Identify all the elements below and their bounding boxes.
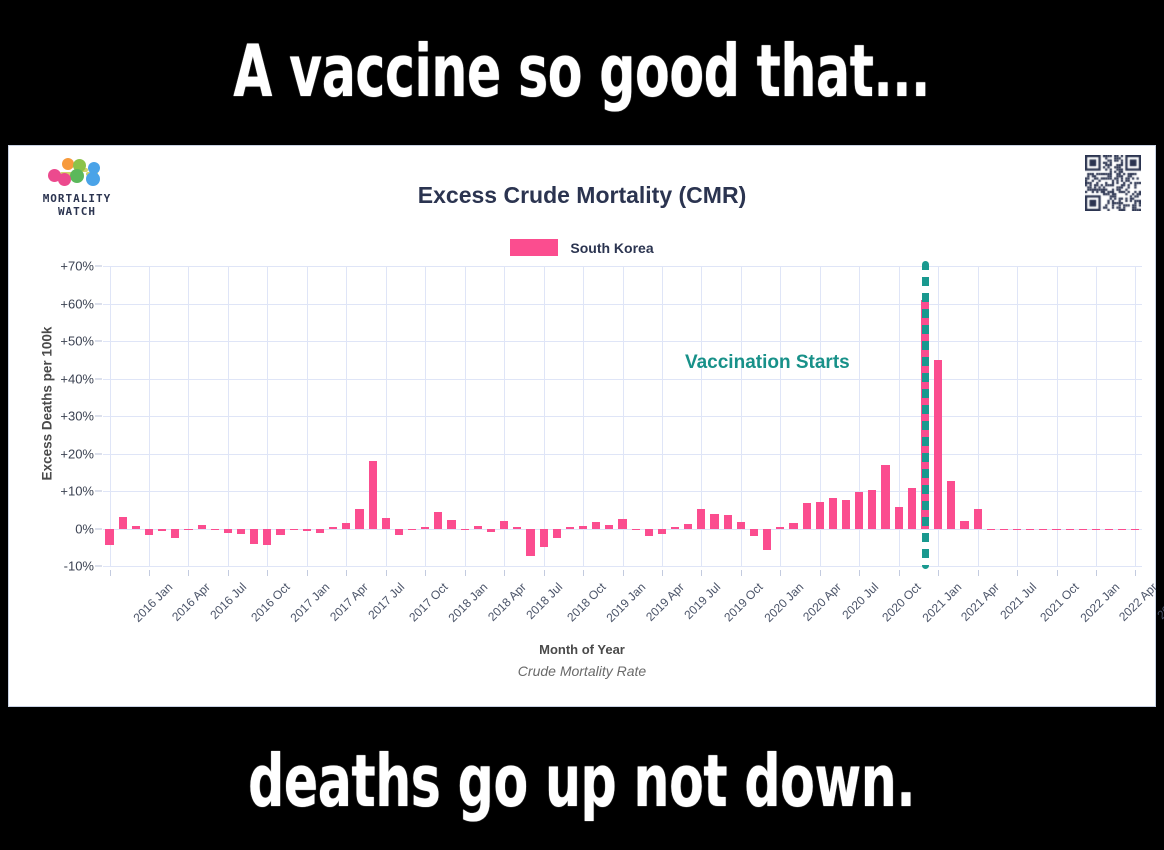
x-axis-tick-label: 2019 Jul xyxy=(681,580,723,622)
screenshot-root: A vaccine so good that... MORTALITY WATC… xyxy=(0,0,1164,850)
bar xyxy=(1026,529,1034,531)
bar xyxy=(579,526,587,528)
vaccination-start-label: Vaccination Starts xyxy=(685,352,850,374)
bar xyxy=(224,529,232,533)
x-axis-tick-label: 2020 Apr xyxy=(800,580,844,624)
bar xyxy=(329,527,337,529)
bar xyxy=(1131,529,1139,531)
x-axis-tick-label: 2016 Apr xyxy=(169,580,213,624)
bar xyxy=(1052,529,1060,531)
x-axis-tick-label: 2017 Apr xyxy=(327,580,371,624)
bar xyxy=(1092,529,1100,531)
bar xyxy=(553,529,561,538)
x-axis-tick-label: 2022 Jan xyxy=(1077,580,1122,625)
bar xyxy=(1039,529,1047,531)
bar xyxy=(1079,529,1087,531)
bar xyxy=(487,529,495,532)
x-axis-tick-mark xyxy=(1017,570,1018,576)
bar xyxy=(960,521,968,528)
x-axis-tick-label: 2021 Apr xyxy=(958,580,1002,624)
x-axis-tick-mark xyxy=(346,570,347,576)
y-axis-tick-label: +10% xyxy=(60,484,94,499)
bar xyxy=(447,520,455,529)
x-axis-tick-label: 2016 Oct xyxy=(248,580,292,624)
bar xyxy=(382,518,390,529)
bar xyxy=(842,500,850,528)
meme-bottom-banner: deaths go up not down. xyxy=(0,712,1164,850)
x-axis-title: Month of Year xyxy=(9,642,1155,657)
x-axis-tick-label: 2016 Jul xyxy=(208,580,250,622)
bar xyxy=(540,529,548,547)
bar xyxy=(119,517,127,529)
x-axis-tick-mark xyxy=(859,570,860,576)
bar xyxy=(618,519,626,529)
x-axis-tick-mark xyxy=(149,570,150,576)
bar xyxy=(500,521,508,529)
y-axis-tick-label: 0% xyxy=(75,521,94,536)
plot-area: +70%+60%+50%+40%+30%+20%+10%0%-10% Vacci… xyxy=(103,266,1142,566)
bar xyxy=(132,526,140,528)
bar xyxy=(198,525,206,528)
y-axis-tick-label: +50% xyxy=(60,334,94,349)
bar xyxy=(645,529,653,537)
x-axis-tick-mark xyxy=(938,570,939,576)
x-axis-tick-label: 2018 Jan xyxy=(446,580,491,625)
x-axis-tick-mark xyxy=(701,570,702,576)
bar xyxy=(816,502,824,529)
bar xyxy=(737,522,745,529)
bar xyxy=(395,529,403,536)
bar xyxy=(342,523,350,528)
bar xyxy=(605,525,613,528)
bar xyxy=(868,490,876,529)
y-axis-tick-label: +20% xyxy=(60,446,94,461)
legend-swatch-south-korea xyxy=(510,239,558,256)
bar xyxy=(421,527,429,529)
gridline-horizontal xyxy=(103,566,1142,567)
x-axis-tick-mark xyxy=(228,570,229,576)
bar-series-south-korea xyxy=(103,266,1142,566)
x-axis-tick-mark xyxy=(978,570,979,576)
bar xyxy=(526,529,534,556)
bar xyxy=(408,529,416,531)
x-axis-tick-label: 2018 Apr xyxy=(485,580,529,624)
vaccination-start-line xyxy=(922,261,929,569)
x-axis-ticks: 2016 Jan2016 Apr2016 Jul2016 Oct2017 Jan… xyxy=(103,570,1142,640)
bar xyxy=(316,529,324,534)
x-axis-tick-label: 2020 Jan xyxy=(761,580,806,625)
bar xyxy=(947,481,955,528)
x-axis-tick-label: 2022 Apr xyxy=(1116,580,1160,624)
bar xyxy=(369,461,377,529)
y-axis-tick-label: +30% xyxy=(60,409,94,424)
y-axis-tick-mark xyxy=(95,266,102,267)
y-axis-tick-label: -10% xyxy=(64,559,94,574)
bar xyxy=(658,529,666,534)
x-axis-tick-mark xyxy=(504,570,505,576)
bar xyxy=(263,529,271,546)
meme-top-banner: A vaccine so good that... xyxy=(0,0,1164,142)
x-axis-tick-label: 2019 Apr xyxy=(643,580,687,624)
logo-dot xyxy=(70,169,84,183)
bar xyxy=(474,526,482,529)
legend-label-south-korea: South Korea xyxy=(570,240,653,256)
bar xyxy=(250,529,258,544)
x-axis-tick-mark xyxy=(1135,570,1136,576)
x-axis-tick-mark xyxy=(899,570,900,576)
y-axis-tick-mark xyxy=(95,416,102,417)
bar xyxy=(105,529,113,546)
bar xyxy=(776,527,784,529)
y-axis-tick-mark xyxy=(95,491,102,492)
bar xyxy=(211,529,219,531)
x-axis-tick-mark xyxy=(623,570,624,576)
bar xyxy=(237,529,245,535)
x-axis-tick-label: 2020 Jul xyxy=(839,580,881,622)
bar xyxy=(290,529,298,531)
x-axis-tick-label: 2017 Jan xyxy=(288,580,333,625)
x-axis-tick-label: 2019 Jan xyxy=(603,580,648,625)
x-axis-tick-mark xyxy=(425,570,426,576)
x-axis-tick-label: 2017 Jul xyxy=(366,580,408,622)
x-axis-tick-mark xyxy=(110,570,111,576)
x-axis-tick-label: 2021 Jan xyxy=(919,580,964,625)
bar xyxy=(829,498,837,528)
bar xyxy=(632,529,640,531)
x-axis-tick-mark xyxy=(544,570,545,576)
x-axis-tick-mark xyxy=(662,570,663,576)
bar xyxy=(434,512,442,528)
bar xyxy=(592,522,600,528)
bar xyxy=(724,515,732,528)
x-axis-tick-mark xyxy=(820,570,821,576)
x-axis-tick-label: 2021 Oct xyxy=(1037,580,1081,624)
x-axis-subtitle: Crude Mortality Rate xyxy=(9,663,1155,679)
meme-top-text: A vaccine so good that... xyxy=(234,35,931,107)
y-axis-tick-label: +60% xyxy=(60,296,94,311)
bar xyxy=(895,507,903,529)
y-axis-tick-mark xyxy=(95,453,102,454)
chart-title: Excess Crude Mortality (CMR) xyxy=(9,182,1155,209)
x-axis-tick-mark xyxy=(465,570,466,576)
x-axis-tick-mark xyxy=(188,570,189,576)
x-axis-tick-mark xyxy=(267,570,268,576)
bar xyxy=(763,529,771,551)
bar xyxy=(697,509,705,528)
x-axis-tick-mark xyxy=(780,570,781,576)
bar xyxy=(303,529,311,531)
x-axis-tick-label: 2017 Oct xyxy=(406,580,450,624)
bar xyxy=(145,529,153,536)
chart-card: MORTALITY WATCH Excess Crude Mortality (… xyxy=(8,145,1156,707)
bar xyxy=(974,509,982,529)
bar xyxy=(803,503,811,529)
bar xyxy=(1105,529,1113,531)
y-axis-tick-mark xyxy=(95,303,102,304)
bar xyxy=(684,524,692,529)
y-axis-tick-label: +40% xyxy=(60,371,94,386)
bar xyxy=(276,529,284,535)
x-axis-tick-mark xyxy=(741,570,742,576)
bar xyxy=(881,465,889,529)
meme-bottom-text: deaths go up not down. xyxy=(248,745,915,817)
bar xyxy=(934,360,942,529)
bar xyxy=(1000,529,1008,531)
bar xyxy=(513,527,521,529)
bar xyxy=(908,488,916,529)
bar xyxy=(855,492,863,529)
chart-legend[interactable]: South Korea xyxy=(9,239,1155,256)
x-axis-tick-mark xyxy=(1096,570,1097,576)
bar xyxy=(789,523,797,528)
y-axis-tick-mark xyxy=(95,528,102,529)
bar xyxy=(1066,529,1074,531)
bar xyxy=(184,529,192,531)
x-axis-tick-label: 2016 Jan xyxy=(130,580,175,625)
x-axis-tick-mark xyxy=(307,570,308,576)
bar xyxy=(671,527,679,529)
bar xyxy=(1013,529,1021,531)
x-axis-tick-mark xyxy=(386,570,387,576)
bar xyxy=(461,529,469,531)
x-axis-tick-label: 2019 Oct xyxy=(722,580,766,624)
y-axis-tick-mark xyxy=(95,566,102,567)
x-axis-tick-label: 2018 Oct xyxy=(564,580,608,624)
bar xyxy=(710,514,718,529)
bar xyxy=(566,527,574,529)
y-axis-title: Excess Deaths per 100k xyxy=(40,274,55,534)
bar xyxy=(750,529,758,536)
bar xyxy=(987,529,995,531)
x-axis-tick-mark xyxy=(1057,570,1058,576)
x-axis-tick-label: 2021 Jul xyxy=(997,580,1039,622)
y-axis-tick-mark xyxy=(95,378,102,379)
bar xyxy=(355,509,363,529)
bar xyxy=(171,529,179,539)
y-axis-tick-mark xyxy=(95,341,102,342)
bar xyxy=(1118,529,1126,531)
y-axis-tick-label: +70% xyxy=(60,259,94,274)
x-axis-tick-mark xyxy=(583,570,584,576)
x-axis-tick-label: 2018 Jul xyxy=(523,580,565,622)
x-axis-tick-label: 2020 Oct xyxy=(879,580,923,624)
bar xyxy=(158,529,166,532)
